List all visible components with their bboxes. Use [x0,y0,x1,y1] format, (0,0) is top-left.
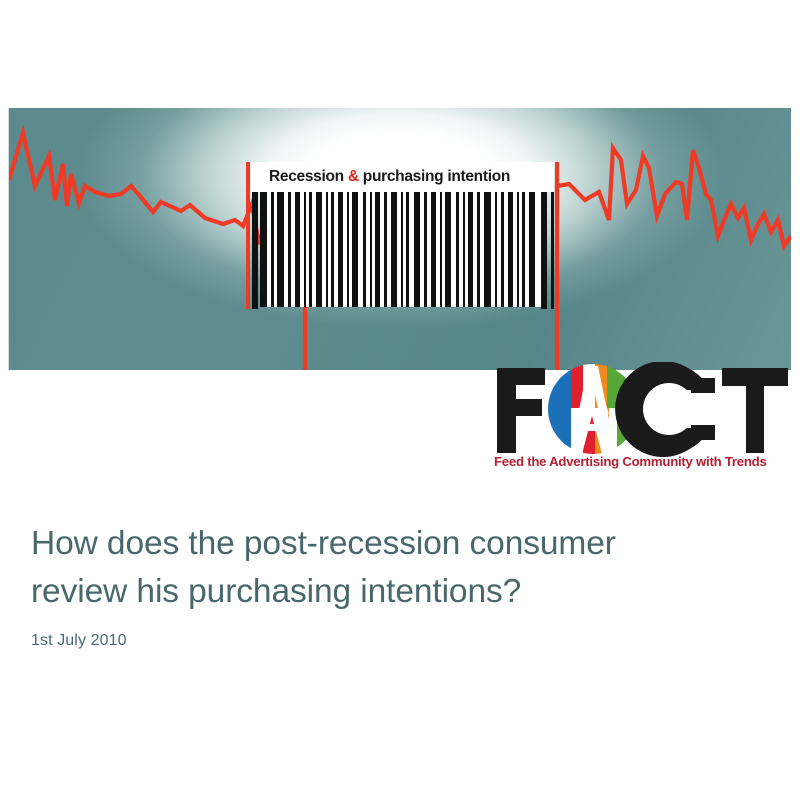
deck-date: 1st July 2010 [31,632,771,650]
barcode-label-row: Recession & purchasing intention [251,162,554,192]
logo-letter-t [722,368,788,453]
barcode-graphic: Recession & purchasing intention [246,162,559,309]
fact-tagline: Feed the Advertising Community with Tren… [494,454,794,469]
title-block: How does the post-recession consumer rev… [31,520,771,650]
barcode-label-part-2: purchasing intention [359,168,510,185]
barcode-label-ampersand: & [348,168,359,185]
page-title: How does the post-recession consumer rev… [31,520,771,616]
recession-banner: Recession & purchasing intention [8,108,791,370]
fact-wordmark [490,362,792,458]
barcode-bars [260,188,542,307]
logo-letter-f [497,368,545,453]
barcode-label-part-1: Recession [269,168,348,185]
fact-logo: Feed the Advertising Community with Tren… [490,362,792,478]
logo-letter-c [615,362,720,457]
barcode-label: Recession & purchasing intention [269,168,510,186]
trend-line-right [557,148,791,370]
